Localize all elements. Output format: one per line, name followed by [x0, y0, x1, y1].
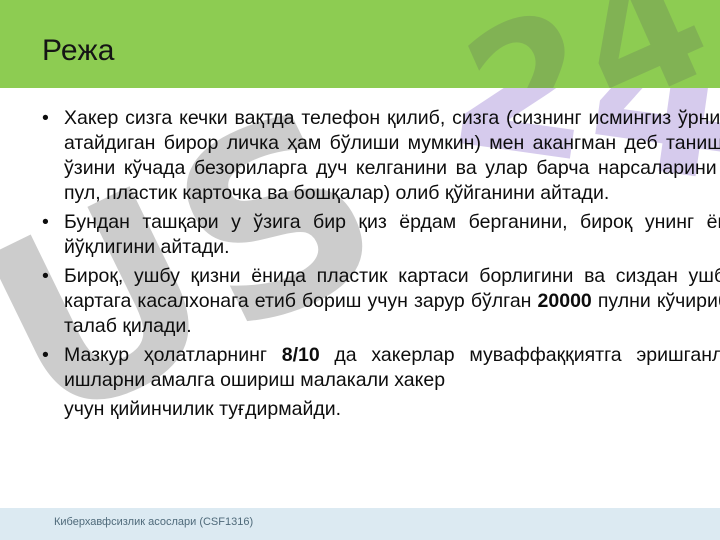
- list-item-text: Мазкур ҳолатларнинг: [64, 344, 282, 366]
- slide-body: •Хакер сизга кечки вақтда телефон қилиб,…: [0, 96, 720, 496]
- bullet-list: •Хакер сизга кечки вақтда телефон қилиб,…: [36, 106, 720, 422]
- list-item-text: Хакер сизга кечки вақтда телефон қилиб, …: [64, 107, 720, 204]
- bullet-marker-icon: •: [42, 210, 49, 235]
- list-item: •Хакер сизга кечки вақтда телефон қилиб,…: [36, 106, 720, 206]
- list-item-text: Бундан ташқари у ўзига бир қиз ёрдам бер…: [64, 211, 720, 258]
- list-item: •Бундан ташқари у ўзига бир қиз ёрдам бе…: [36, 210, 720, 260]
- list-item-continuation: учун қийинчилик туғдирмайди.: [36, 397, 720, 422]
- list-item: •Мазкур ҳолатларнинг 8/10 да хакерлар му…: [36, 343, 720, 393]
- ratio-value: 8/10: [282, 344, 320, 366]
- amount-value: 20000: [538, 290, 592, 312]
- header-watermark-icon: 24: [440, 0, 720, 88]
- page-title: Режа: [42, 34, 115, 68]
- footer-course-label: Киберхавфсизлик асослари (CSF1316): [54, 515, 253, 529]
- list-item-text: учун қийинчилик туғдирмайди.: [64, 398, 341, 420]
- bullet-marker-icon: •: [42, 343, 49, 368]
- bullet-marker-icon: •: [42, 264, 49, 289]
- bullet-marker-icon: •: [42, 106, 49, 131]
- list-item: •Бироқ, ушбу қизни ёнида пластик картаси…: [36, 264, 720, 339]
- presentation-slide: 24 US 24 Режа •Хакер сизга кечки вақтда …: [0, 0, 720, 540]
